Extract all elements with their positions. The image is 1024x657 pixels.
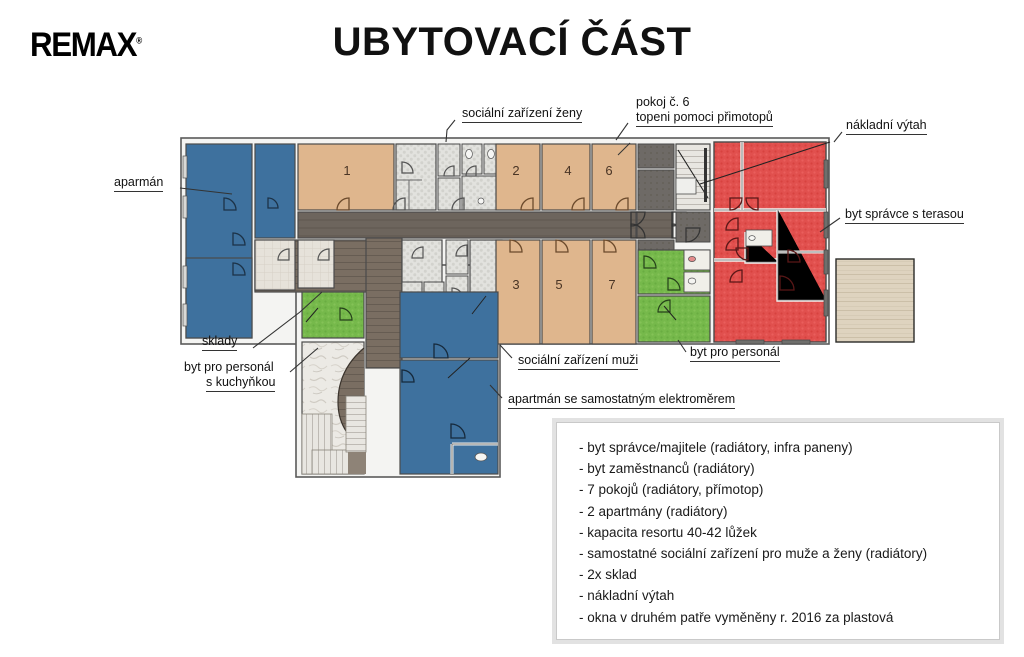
room6-heating-label: topeni pomoci přimotopů: [636, 110, 773, 127]
freight-lift-label: nákladní výtah: [846, 118, 927, 135]
legend-item: - byt správce/majitele (radiátory, infra…: [579, 437, 983, 458]
room-number: 7: [608, 277, 615, 292]
aparman-label: aparmán: [114, 175, 163, 192]
manager-flat-label: byt správce s terasou: [845, 207, 964, 224]
staff-flat-kitchen-label2: s kuchyňkou: [206, 375, 275, 392]
staff-flat-kitchen-label: byt pro personál: [184, 360, 274, 375]
room-number: 3: [512, 277, 519, 292]
room6-label: pokoj č. 6: [636, 95, 690, 110]
legend-box: - byt správce/majitele (radiátory, infra…: [556, 422, 1000, 640]
room-number: 1: [343, 163, 350, 178]
lower-wing: [302, 292, 498, 474]
staff-flat-label: byt pro personál: [690, 345, 780, 362]
terrace-deck: [836, 259, 914, 342]
sklady-label: sklady: [202, 334, 237, 351]
room-1-and-baths: [298, 144, 502, 210]
legend-item: - byt zaměstnanců (radiátory): [579, 458, 983, 479]
legend-item: - kapacita resortu 40-42 lůžek: [579, 522, 983, 543]
staff-flat-green-right: [638, 250, 710, 342]
manager-flat-red: [700, 142, 830, 344]
room-number: 5: [555, 277, 562, 292]
legend-item: - samostatné sociální zařízení pro muže …: [579, 543, 983, 564]
legend-item: - 2 apartmány (radiátory): [579, 501, 983, 522]
legend-item: - okna v druhém patře vyměněny r. 2016 z…: [579, 607, 983, 628]
apartment-meter-label: apartmán se samostatným elektroměrem: [508, 392, 735, 409]
legend-item: - 2x sklad: [579, 564, 983, 585]
legend-item: - nákladní výtah: [579, 585, 983, 606]
room-number: 2: [512, 163, 519, 178]
room-number: 6: [605, 163, 612, 178]
womens-facilities-label: sociální zařízení ženy: [462, 106, 582, 123]
legend-item: - 7 pokojů (radiátory, přímotop): [579, 479, 983, 500]
room-number: 4: [564, 163, 571, 178]
mens-facilities-label: sociální zařízení muži: [518, 353, 638, 370]
